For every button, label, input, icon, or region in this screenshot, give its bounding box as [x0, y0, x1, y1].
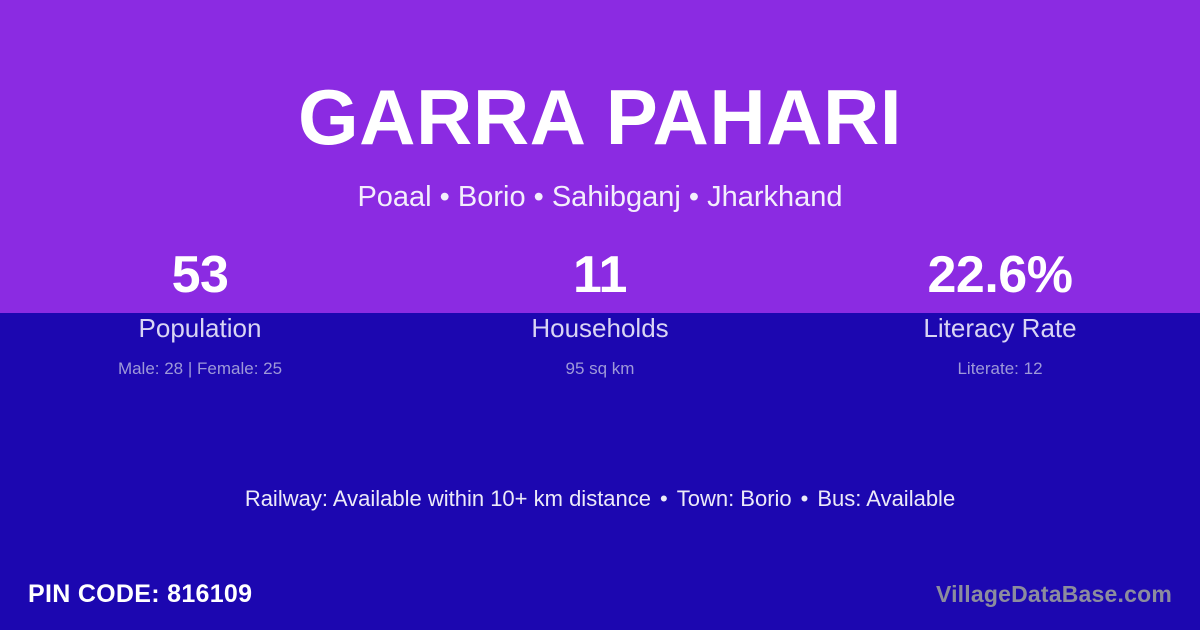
footer: PIN CODE: 816109 VillageDataBase.com [0, 568, 1200, 630]
amenity-separator: • [651, 486, 677, 512]
stat-literacy-rate: 22.6% Literacy Rate Literate: 12 [800, 246, 1200, 380]
amenity-railway: Railway: Available within 10+ km distanc… [245, 486, 651, 511]
site-brand: VillageDataBase.com [936, 583, 1172, 606]
stat-sublabel: Male: 28 | Female: 25 [0, 358, 400, 380]
stats-row: 53 Population Male: 28 | Female: 25 11 H… [0, 246, 1200, 380]
stat-value: 53 [0, 246, 400, 306]
pin-code: PIN CODE: 816109 [28, 582, 252, 607]
stat-sublabel: Literate: 12 [800, 358, 1200, 380]
breadcrumb: Poaal • Borio • Sahibganj • Jharkhand [0, 182, 1200, 214]
village-info-card: GARRA PAHARI Poaal • Borio • Sahibganj •… [0, 0, 1200, 630]
stat-label: Population [0, 312, 400, 346]
amenity-town: Town: Borio [677, 486, 792, 511]
stat-label: Households [400, 312, 800, 346]
amenity-separator: • [792, 486, 818, 512]
stat-value: 22.6% [800, 246, 1200, 306]
amenities-row: Railway: Available within 10+ km distanc… [0, 486, 1200, 512]
stat-population: 53 Population Male: 28 | Female: 25 [0, 246, 400, 380]
stat-value: 11 [400, 246, 800, 306]
amenity-bus: Bus: Available [817, 486, 955, 511]
stat-households: 11 Households 95 sq km [400, 246, 800, 380]
stat-label: Literacy Rate [800, 312, 1200, 346]
page-title: GARRA PAHARI [0, 78, 1200, 156]
stat-sublabel: 95 sq km [400, 358, 800, 380]
